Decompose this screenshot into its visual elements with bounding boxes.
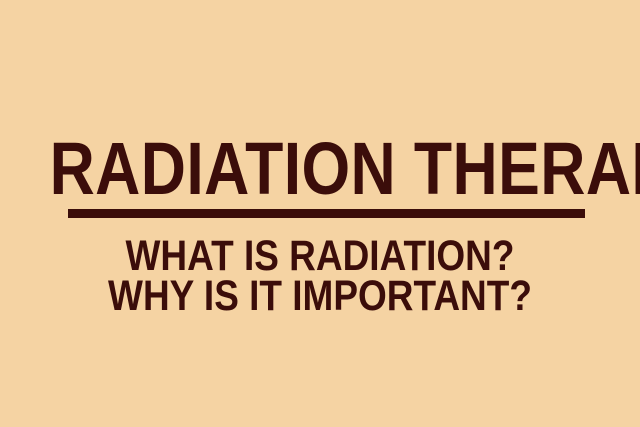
title-slide: RADIATION THERAPY WHAT IS RADIATION? WHY…: [0, 0, 640, 427]
page-title: RADIATION THERAPY: [50, 132, 591, 206]
title-block: RADIATION THERAPY: [0, 132, 640, 206]
subtitle-line-1: WHAT IS RADIATION?: [45, 236, 595, 276]
subtitle-line-2: WHY IS IT IMPORTANT?: [45, 276, 595, 316]
title-divider-rule: [68, 209, 585, 218]
subtitle-block: WHAT IS RADIATION? WHY IS IT IMPORTANT?: [0, 236, 640, 316]
